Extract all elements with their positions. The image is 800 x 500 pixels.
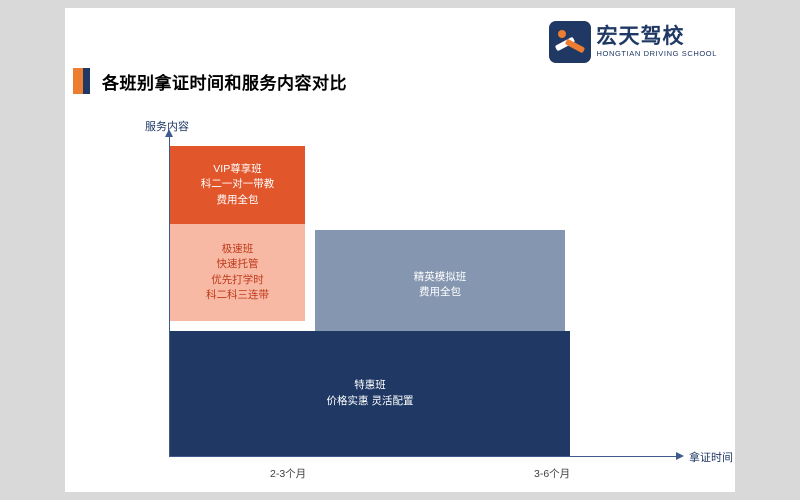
logo-text-block: 宏天驾校 HONGTIAN DRIVING SCHOOL — [597, 26, 717, 58]
comparison-chart: 服务内容 拿证时间 精英模拟班 费用全包 VIP尊享班 科二一对一带教 费用全包… — [145, 118, 725, 468]
bar-speed-line3: 优先打学时 — [211, 274, 264, 286]
bar-elite-line2: 费用全包 — [419, 286, 461, 298]
slide-canvas: 宏天驾校 HONGTIAN DRIVING SCHOOL 各班别拿证时间和服务内… — [65, 8, 735, 492]
bar-vip-title: VIP尊享班 — [201, 162, 275, 177]
bar-speed-line2: 快速托管 — [217, 258, 259, 270]
logo-english-name: HONGTIAN DRIVING SCHOOL — [597, 50, 717, 58]
bar-vip-line3: 费用全包 — [217, 194, 259, 206]
page-title-row: 各班别拿证时间和服务内容对比 — [73, 68, 347, 94]
brand-logo: 宏天驾校 HONGTIAN DRIVING SCHOOL — [549, 20, 717, 64]
logo-chinese-name: 宏天驾校 — [597, 26, 717, 47]
title-accent-orange — [73, 68, 83, 94]
bar-discount-label: 特惠班 价格实惠 灵活配置 — [327, 378, 414, 408]
x-axis-arrow-icon — [676, 452, 684, 460]
bar-vip-line2: 科二一对一带教 — [201, 178, 275, 190]
bar-vip-class: VIP尊享班 科二一对一带教 费用全包 — [170, 146, 305, 224]
x-tick-label-2: 3-6个月 — [534, 466, 570, 481]
bar-speed-line4: 科二科三连带 — [206, 289, 269, 301]
logo-dot-icon — [558, 30, 566, 38]
title-accent-navy — [83, 68, 90, 94]
bar-discount-class: 特惠班 价格实惠 灵活配置 — [170, 331, 570, 456]
bar-elite-label: 精英模拟班 费用全包 — [414, 270, 467, 300]
x-axis-label: 拿证时间 — [689, 449, 733, 465]
bar-speed-class: 极速班 快速托管 优先打学时 科二科三连带 — [170, 224, 305, 321]
x-axis-line — [169, 456, 677, 457]
bar-vip-label: VIP尊享班 科二一对一带教 费用全包 — [201, 162, 275, 208]
bar-discount-title: 特惠班 — [327, 378, 414, 393]
bar-discount-line2: 价格实惠 灵活配置 — [327, 395, 414, 407]
bar-elite-simulation-class: 精英模拟班 费用全包 — [315, 230, 565, 340]
page-title: 各班别拿证时间和服务内容对比 — [102, 69, 347, 94]
bar-speed-title: 极速班 — [206, 242, 269, 257]
bar-speed-label: 极速班 快速托管 优先打学时 科二科三连带 — [206, 242, 269, 303]
x-tick-label-1: 2-3个月 — [270, 466, 306, 481]
y-axis-arrow-icon — [165, 129, 173, 137]
bar-elite-title: 精英模拟班 — [414, 270, 467, 285]
hongtian-logo-mark-icon — [549, 21, 591, 63]
